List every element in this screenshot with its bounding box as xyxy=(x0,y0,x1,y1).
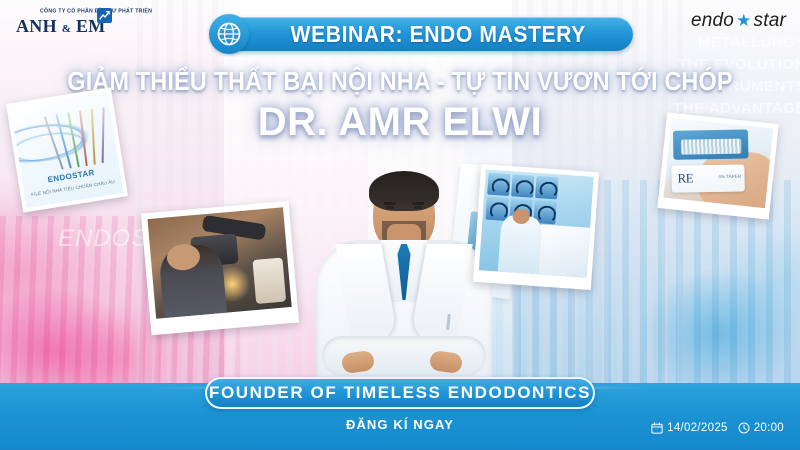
endostar-suffix: star xyxy=(754,10,786,32)
product-box-blue xyxy=(673,129,749,159)
webinar-pill-label: WEBINAR: ENDO MASTERY xyxy=(261,21,586,48)
cbct-operator xyxy=(498,215,543,274)
cbct-machine xyxy=(535,224,590,278)
brochure-inner: ENDOSTAR FILE NỘI NHA TIÊU CHUẨN CHÂU ÂU xyxy=(11,92,124,208)
endostar-logo[interactable]: endo ★ star xyxy=(691,10,786,32)
page-title: GIẢM THIỂU THẤT BẠI NỘI NHA - TỰ TIN VƯƠ… xyxy=(40,66,760,97)
speaker-brow-right xyxy=(412,202,424,205)
brochure-file-illustration xyxy=(45,98,120,172)
chart-arrow-icon xyxy=(97,8,112,23)
event-datetime: 14/02/2025 20:00 xyxy=(651,422,784,434)
logo-ampersand: & xyxy=(62,23,71,35)
microscope-treatment-photo xyxy=(141,201,299,335)
speaker-hair xyxy=(369,171,439,211)
speaker-eye-right xyxy=(414,206,422,209)
event-time: 20:00 xyxy=(738,422,784,434)
anh-em-logo[interactable]: CÔNG TY CỔ PHẦN ĐẦU TƯ PHÁT TRIỂN ANH & … xyxy=(10,8,120,37)
endostar-prefix: endo xyxy=(691,10,734,32)
logo-name-anh: ANH xyxy=(16,16,57,36)
re-product-photo: RE 4% TAPER xyxy=(657,112,778,219)
cbct-photo-inner xyxy=(479,169,594,277)
scan-image-4 xyxy=(485,197,508,221)
speaker-portrait xyxy=(316,158,492,390)
founder-label: FOUNDER OF TIMELESS ENDODONTICS xyxy=(209,383,591,403)
globe-icon xyxy=(209,14,249,54)
webinar-title-pill: WEBINAR: ENDO MASTERY xyxy=(213,17,633,51)
calendar-icon xyxy=(651,422,663,434)
register-cta[interactable]: ĐĂNG KÍ NGAY xyxy=(346,417,454,432)
product-small-text: 4% TAPER xyxy=(718,174,741,180)
star-icon: ★ xyxy=(736,11,751,31)
event-date-text: 14/02/2025 xyxy=(667,422,728,434)
webinar-poster: METALLURGY THE EVOLUTION INSTRUMENTS THE… xyxy=(0,0,800,450)
cbct-scan-photo xyxy=(473,164,599,290)
re-photo-inner: RE 4% TAPER xyxy=(663,118,773,208)
watermark-line-1: METALLURGY xyxy=(698,34,800,51)
speaker-eye-left xyxy=(386,206,394,209)
endostar-brochure-photo: ENDOSTAR FILE NỘI NHA TIÊU CHUẨN CHÂU ÂU xyxy=(6,87,128,212)
event-time-text: 20:00 xyxy=(754,422,784,434)
event-date: 14/02/2025 xyxy=(651,422,728,434)
microscope-photo-inner xyxy=(147,207,291,318)
speaker-brow-left xyxy=(384,202,396,205)
microscope-lamp xyxy=(252,258,286,304)
product-label-card: RE 4% TAPER xyxy=(671,165,745,193)
scan-image-3 xyxy=(535,176,558,200)
clock-icon xyxy=(738,422,750,434)
founder-title-pill: FOUNDER OF TIMELESS ENDODONTICS xyxy=(205,377,595,409)
product-letters: RE xyxy=(677,170,693,186)
scan-image-2 xyxy=(511,174,534,198)
speaker-lab-coat xyxy=(316,240,492,390)
scan-image-1 xyxy=(487,173,510,197)
